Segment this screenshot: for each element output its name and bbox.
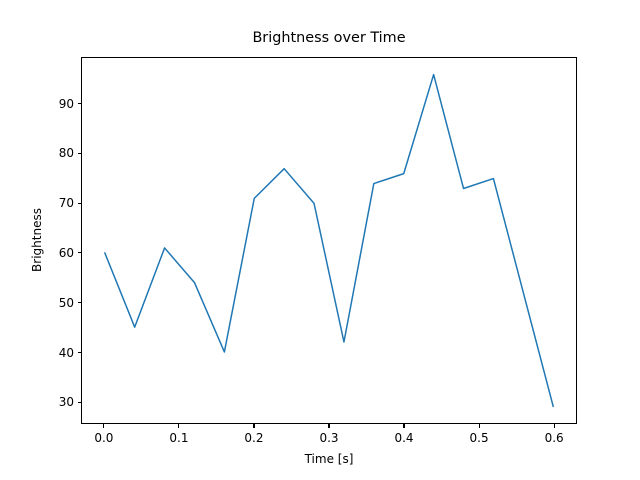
x-tick-mark <box>253 424 254 428</box>
y-tick-mark <box>78 103 82 104</box>
x-tick-label: 0.2 <box>244 431 263 445</box>
y-tick-label: 70 <box>19 196 74 210</box>
x-tick-label: 0.1 <box>169 431 188 445</box>
data-polyline <box>105 75 553 407</box>
y-tick-label: 90 <box>19 97 74 111</box>
x-tick-label: 0.4 <box>394 431 413 445</box>
x-tick-label: 0.3 <box>319 431 338 445</box>
y-tick-label: 30 <box>19 395 74 409</box>
x-tick-label: 0.5 <box>470 431 489 445</box>
y-tick-label: 80 <box>19 146 74 160</box>
plot-area <box>81 57 577 424</box>
x-tick-mark <box>328 424 329 428</box>
x-tick-label: 0.0 <box>94 431 113 445</box>
y-tick-mark <box>78 302 82 303</box>
line-series-brightness <box>82 58 576 423</box>
x-tick-label: 0.6 <box>545 431 564 445</box>
chart-title: Brightness over Time <box>81 30 577 47</box>
x-tick-mark <box>403 424 404 428</box>
y-tick-mark <box>78 203 82 204</box>
y-tick-mark <box>78 402 82 403</box>
x-tick-mark <box>103 424 104 428</box>
y-tick-mark <box>78 153 82 154</box>
x-tick-mark <box>178 424 179 428</box>
y-tick-label: 50 <box>19 296 74 310</box>
y-tick-mark <box>78 352 82 353</box>
x-tick-mark <box>554 424 555 428</box>
y-tick-mark <box>78 252 82 253</box>
chart-figure: Brightness over Time Brightness Time [s]… <box>0 0 640 480</box>
x-axis-label: Time [s] <box>81 452 577 466</box>
y-tick-label: 40 <box>19 346 74 360</box>
y-axis-label: Brightness <box>30 208 44 272</box>
x-tick-mark <box>479 424 480 428</box>
y-tick-label: 60 <box>19 246 74 260</box>
